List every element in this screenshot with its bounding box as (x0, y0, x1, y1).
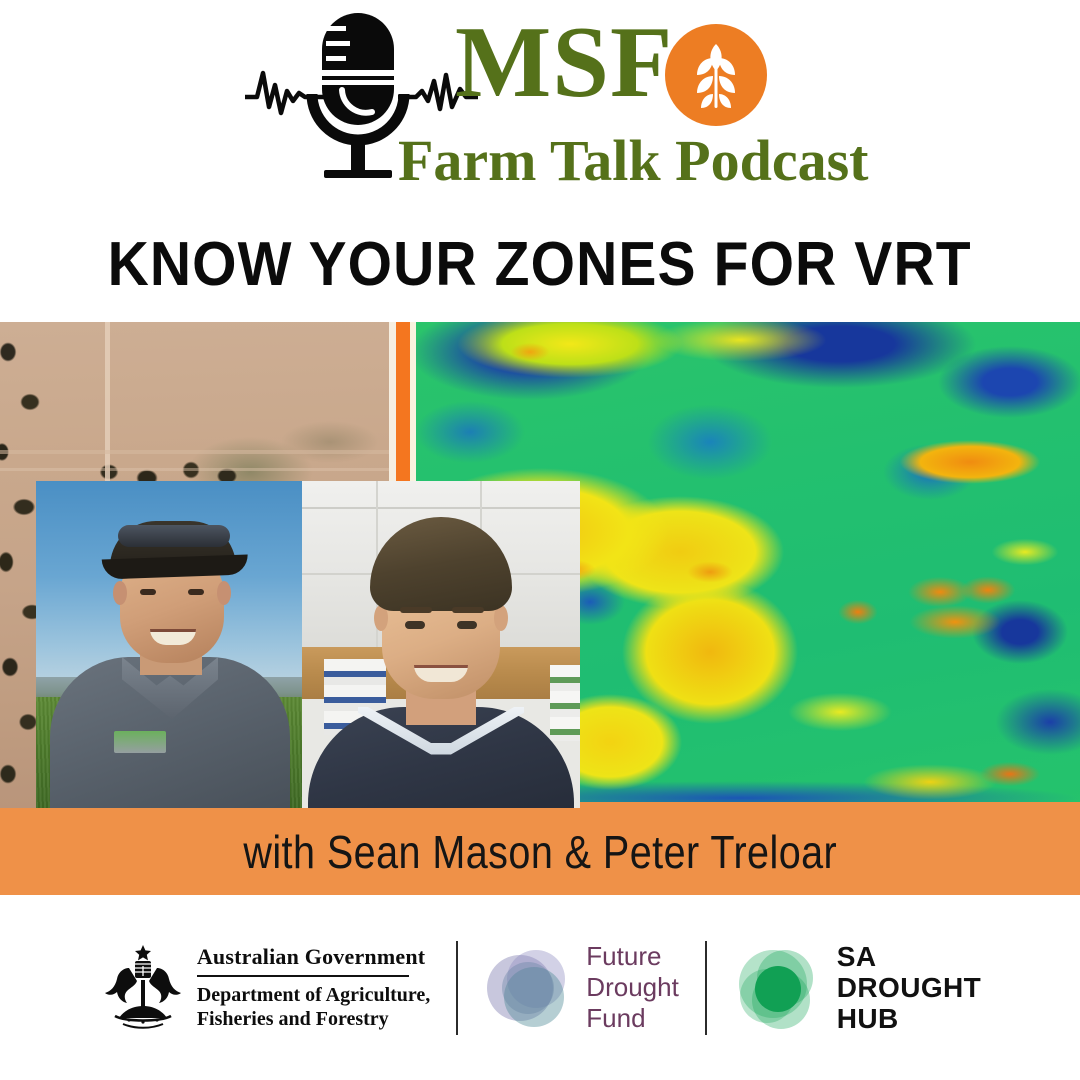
logo-divider (705, 941, 707, 1035)
msf-wordmark: MSF (455, 12, 673, 114)
photo-eyebrow-left (400, 607, 432, 613)
farm-track-horizontal-secondary (0, 468, 404, 471)
sa-drought-hub-line2: DROUGHT (837, 972, 981, 1003)
australian-government-line2: Department of Agriculture, (197, 983, 430, 1007)
future-drought-fund-line3: Fund (586, 1003, 679, 1034)
photo-sunglasses (118, 525, 230, 547)
australian-government-rule (197, 975, 409, 977)
future-drought-fund-line2: Drought (586, 972, 679, 1003)
future-drought-fund-line1: Future (586, 941, 679, 972)
australian-coat-of-arms-icon (99, 942, 187, 1034)
photo-eye-left (405, 621, 425, 629)
farm-track-horizontal (0, 450, 404, 454)
photo-brochure-rack-right (550, 665, 580, 741)
photo-ear-right (217, 581, 231, 605)
australian-government-logo: Australian Government Department of Agri… (99, 942, 430, 1034)
farm-talk-podcast-wordmark: Farm Talk Podcast (398, 132, 869, 190)
sa-drought-hub-line3: HUB (837, 1003, 981, 1034)
episode-title-text: KNOW YOUR ZONES FOR VRT (108, 229, 972, 300)
wheat-grain-icon (665, 24, 767, 126)
portrait-peter-treloar (302, 481, 580, 809)
photo-ear-left (113, 581, 127, 605)
photo-eye-left (140, 589, 156, 595)
presenters-banner: with Sean Mason & Peter Treloar (0, 808, 1080, 895)
msf-farm-talk-podcast-logo: MSF Farm Talk Podcast (0, 0, 1080, 205)
photo-wall-line (302, 507, 580, 509)
logo-divider (456, 941, 458, 1035)
sa-drought-hub-line1: SA (837, 941, 981, 972)
portrait-sean-mason (36, 481, 302, 809)
sa-drought-hub-blob-icon (733, 944, 821, 1032)
future-drought-fund-spheres-icon (484, 945, 570, 1031)
photo-eyebrow-right (452, 607, 484, 613)
sponsor-logo-footer: Australian Government Department of Agri… (0, 895, 1080, 1080)
australian-government-line1: Australian Government (197, 944, 430, 970)
sa-drought-hub-logo: SA DROUGHT HUB (733, 941, 981, 1034)
future-drought-fund-logo: Future Drought Fund (484, 941, 679, 1034)
photo-shirt-logo (114, 731, 166, 753)
australian-government-line3: Fisheries and Forestry (197, 1007, 430, 1031)
podcast-episode-cover: MSF Farm Talk Podcast (0, 0, 1080, 1080)
photo-eye-right (457, 621, 477, 629)
presenters-text: with Sean Mason & Peter Treloar (243, 825, 837, 879)
episode-title: KNOW YOUR ZONES FOR VRT (0, 214, 1080, 314)
photo-smile (414, 665, 468, 682)
photo-eye-right (188, 589, 204, 595)
